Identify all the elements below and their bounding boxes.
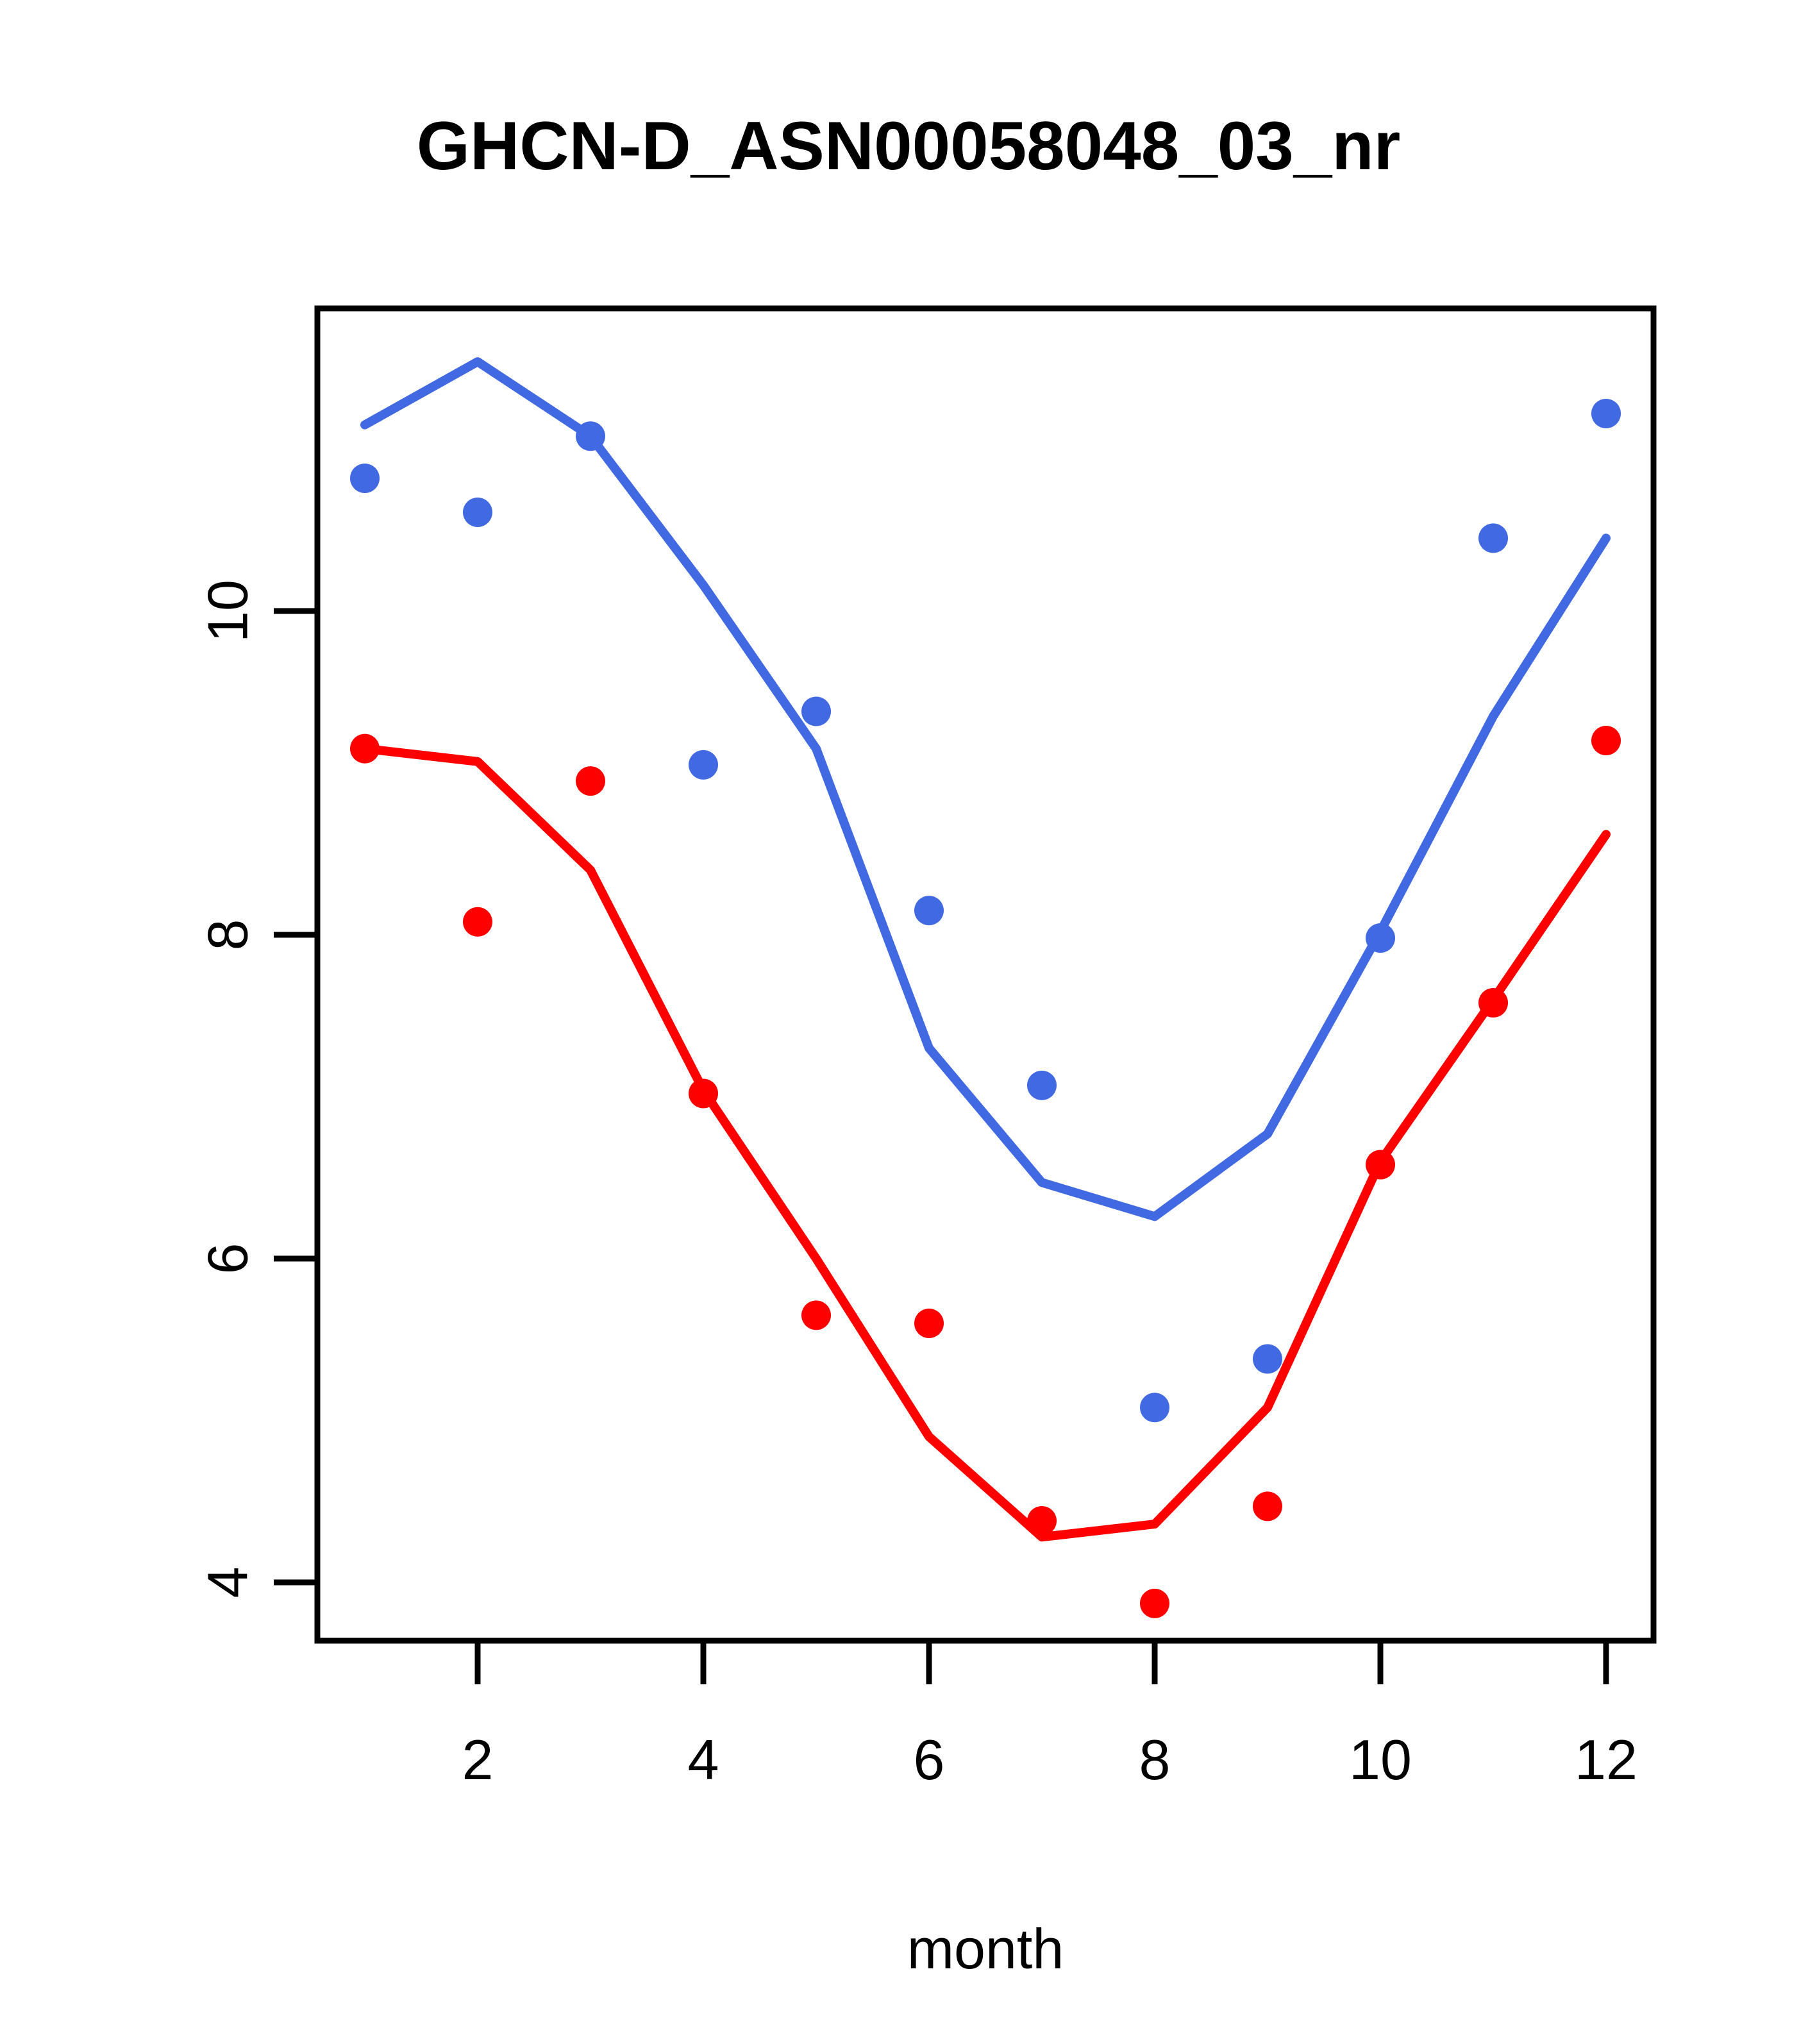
data-point (350, 464, 380, 493)
y-axis-ticks (274, 611, 317, 1582)
data-point (1027, 1071, 1057, 1100)
y-tick-label-6: 6 (196, 1243, 260, 1275)
data-point (1027, 1506, 1057, 1536)
data-point (1253, 1491, 1282, 1521)
data-point (1140, 1589, 1169, 1618)
data-point (1366, 923, 1395, 953)
x-tick-label-2: 2 (462, 1728, 494, 1791)
y-tick-label-10: 10 (196, 580, 260, 642)
data-point (1253, 1345, 1282, 1374)
series-lines-layer (365, 362, 1606, 1537)
y-tick-label-4: 4 (196, 1567, 260, 1598)
data-point (1478, 523, 1508, 553)
data-point (463, 498, 492, 527)
data-point (914, 896, 944, 925)
series-line-blue-line (365, 362, 1606, 1216)
chart-canvas: 10 8 6 4 2 4 6 8 10 12 month (0, 0, 1817, 2044)
plot-frame (317, 308, 1654, 1641)
data-point (463, 907, 492, 937)
data-point (1366, 1150, 1395, 1180)
series-line-red-line (365, 749, 1606, 1537)
x-tick-label-8: 8 (1139, 1728, 1171, 1791)
data-point (801, 1300, 831, 1330)
data-point (1591, 399, 1621, 428)
series-points-layer (350, 399, 1621, 1618)
data-point (1591, 726, 1621, 755)
x-axis-tick-labels: 2 4 6 8 10 12 (462, 1728, 1637, 1791)
data-point (1478, 988, 1508, 1018)
data-point (689, 1078, 718, 1108)
data-point (350, 734, 380, 764)
x-tick-label-6: 6 (914, 1728, 945, 1791)
x-tick-label-12: 12 (1575, 1728, 1637, 1791)
data-point (576, 421, 605, 451)
x-tick-label-4: 4 (688, 1728, 719, 1791)
x-axis-title: month (907, 1917, 1064, 1981)
data-point (689, 750, 718, 780)
y-tick-label-8: 8 (196, 919, 260, 951)
chart-root: GHCN-D_ASN00058048_03_nr 10 8 6 4 2 (0, 0, 1817, 2044)
x-axis-ticks (478, 1641, 1606, 1684)
y-axis-tick-labels: 10 8 6 4 (196, 580, 260, 1598)
data-point (576, 766, 605, 796)
data-point (1140, 1393, 1169, 1422)
data-point (801, 697, 831, 726)
data-point (914, 1309, 944, 1338)
x-tick-label-10: 10 (1349, 1728, 1412, 1791)
